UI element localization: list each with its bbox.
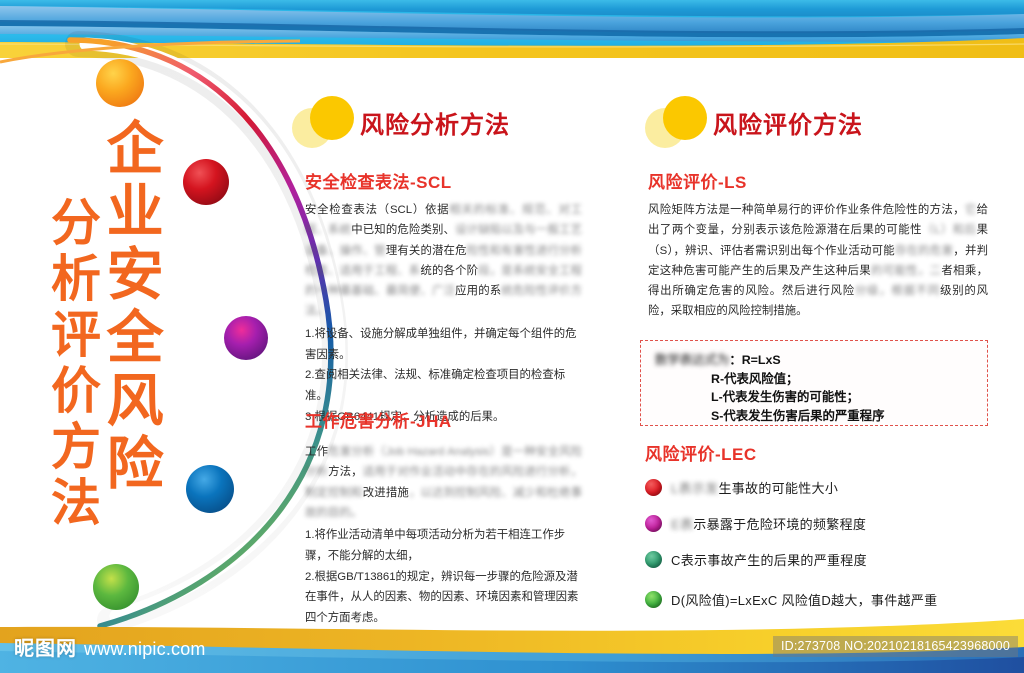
ls-paragraph: 风险矩阵方法是一种简单易行的评价作业条件危险性的方法，它给出了两个变量，分别表示…: [648, 200, 988, 322]
scl-p2-visible: 中已知的危险类别、: [351, 224, 455, 236]
poster-canvas: 企业安全风险 分析评价方法 风险分析方法 安全检查表法-SCL 安全检查表法（S…: [0, 0, 1024, 673]
node-red: [183, 159, 229, 205]
vertical-title: 企业安全风险 分析评价方法: [46, 118, 159, 532]
ls-p5-blur: 的可能性，二: [871, 265, 941, 277]
block-ls: 风险评价-LS 风险矩阵方法是一种简单易行的评价作业条件危险性的方法，它给出了两…: [648, 168, 988, 322]
block-lec: 风险评价-LEC L表示发生事故的可能性大小 E表示暴露于危险环境的频繁程度 C…: [645, 440, 1005, 621]
logo-mark-text: 昵图网: [14, 632, 77, 661]
bullet-dot-green: [645, 591, 662, 608]
ls-p6-blur: 分级，根据不同: [855, 285, 940, 297]
scl-i1-blur: 备、设施分解成单独组件，并确定每个组件的危害因素。: [305, 328, 577, 361]
lec-item-2-text: E表示暴露于危险环境的频繁程度: [671, 514, 866, 533]
formula-line-2: R-代表风险值；: [655, 370, 975, 389]
jha-paragraph: 工作危害分析（Job Hazard Analysis）是一种安全风险分析方法，适…: [305, 442, 582, 523]
jha-i1-visible: 1.将作业活: [305, 529, 360, 541]
block-scl: 安全检查表法-SCL 安全检查表法（SCL）依据相关的标准、规范、对工程、系统中…: [305, 168, 582, 428]
ls-p2-blur: 它: [965, 204, 977, 216]
lec-heading: 风险评价-LEC: [645, 440, 1005, 465]
section-header-evaluation: 风险评价方法: [645, 96, 863, 148]
ls-p4-blur: 存在的危害: [895, 245, 953, 257]
node-purple: [224, 316, 268, 360]
jha-p3-visible: 改进措施: [363, 487, 409, 499]
bullet-dot-teal: [645, 551, 662, 568]
vertical-title-line1: 企业安全风险: [101, 118, 159, 496]
vertical-title-line2: 分析评价方法: [46, 196, 97, 532]
circles-decor-icon: [645, 96, 707, 148]
list-item: C表示事故产生的后果的严重程度: [645, 541, 1005, 577]
ls-p1-visible: 风险矩阵方法是一种简单易行的评价作业条件危险性的方法，: [648, 204, 965, 216]
circle-gold-icon: [310, 96, 354, 140]
block-jha: 工作危害分析-JHA 工作危害分析（Job Hazard Analysis）是一…: [305, 407, 582, 650]
scl-i1-visible: 1.将设: [305, 328, 337, 340]
circles-decor-icon: [292, 96, 354, 148]
id-badge: ID:273708 NO:20210218165423968000: [773, 636, 1018, 657]
formula-line-1: 数学表达式为：R=LxS: [655, 351, 975, 370]
list-item: 2.查阅相关法律、法规、标准确定检查项目的检查标准。: [305, 365, 582, 407]
scl-i2-blur: 相关法律、法规、标准确定检查项目的检查标准。: [305, 369, 565, 402]
site-logo: 昵图网 www.nipic.com: [14, 632, 206, 661]
lec-heading-blur: 风险评价-: [645, 445, 721, 464]
node-orange: [96, 59, 144, 107]
lec-heading-visible: LEC: [721, 445, 757, 464]
list-item: E表示暴露于危险环境的频繁程度: [645, 505, 1005, 541]
list-item: L表示发生事故的可能性大小: [645, 469, 1005, 505]
jha-p2-visible: 方法，: [328, 466, 363, 478]
jha-i2-visible2: 件，从人的因素、物的: [328, 591, 442, 603]
lec-item-4-text: D(风险值)=LxExC 风险值D越大，事件越严重: [671, 590, 937, 609]
formula-line-3: L-代表发生伤害的可能性；: [655, 388, 975, 407]
scl-p5-visible: 应用的系: [455, 285, 501, 297]
lec-item-3-text: C表示事故产生的后果的严重程度: [671, 550, 867, 569]
formula-expr: ：R=LxS: [729, 353, 780, 367]
lec-item-2-visible: 示暴露于危险环境的频繁程度: [693, 517, 866, 532]
bullet-dot-purple: [645, 515, 662, 532]
jha-i2-visible: 2.根据GB/T1386: [305, 571, 389, 583]
jha-p1-visible: 工作: [305, 446, 328, 458]
scl-p1-visible: 安全检查表法（SCL）依据: [305, 204, 449, 216]
lec-item-1-blur: L表示发: [671, 481, 718, 496]
bullet-dot-red: [645, 479, 662, 496]
jha-heading-blur: 作危害分析-JHA: [323, 412, 452, 431]
scl-p4-visible: 统的各个阶: [420, 265, 478, 277]
formula-line-4: S-代表发生伤害后果的严重程序: [655, 407, 975, 426]
formula-label-blur: 数学表达式为: [655, 353, 729, 367]
ls-p3-blur: （L）和后: [922, 224, 977, 236]
scl-paragraph: 安全检查表法（SCL）依据相关的标准、规范、对工程、系统中已知的危险类别、设计缺…: [305, 200, 582, 322]
section-title-evaluation: 风险评价方法: [713, 105, 863, 140]
lec-item-1-visible: 生事故的可能性大小: [718, 481, 838, 496]
lec-item-1-text: L表示发生事故的可能性大小: [671, 478, 838, 497]
node-green: [93, 564, 139, 610]
list-item: 1.将设备、设施分解成单独组件，并确定每个组件的危害因素。: [305, 324, 582, 366]
jha-heading: 工作危害分析-JHA: [305, 407, 582, 432]
top-wave-band: [0, 0, 1024, 58]
logo-url-text: www.nipic.com: [84, 639, 206, 660]
formula-box: 数学表达式为：R=LxS R-代表风险值； L-代表发生伤害的可能性； S-代表…: [640, 340, 988, 426]
node-blue: [186, 465, 234, 513]
scl-heading: 安全检查表法-SCL: [305, 168, 582, 193]
circle-gold-icon: [663, 96, 707, 140]
list-item: 1.将作业活动清单中每项活动分析为若干相连工作步骤，不能分解的太细，: [305, 525, 582, 567]
jha-heading-visible: 工: [305, 412, 323, 431]
lec-item-2-blur: E表: [671, 517, 693, 532]
scl-p3-visible: 理有关的潜在危: [386, 245, 467, 257]
section-header-analysis: 风险分析方法: [292, 96, 510, 148]
list-item: D(风险值)=LxExC 风险值D越大，事件越严重: [645, 577, 1005, 621]
scl-i2-visible: 2.查阅: [305, 369, 337, 381]
ls-heading: 风险评价-LS: [648, 168, 988, 193]
section-title-analysis: 风险分析方法: [360, 105, 510, 140]
